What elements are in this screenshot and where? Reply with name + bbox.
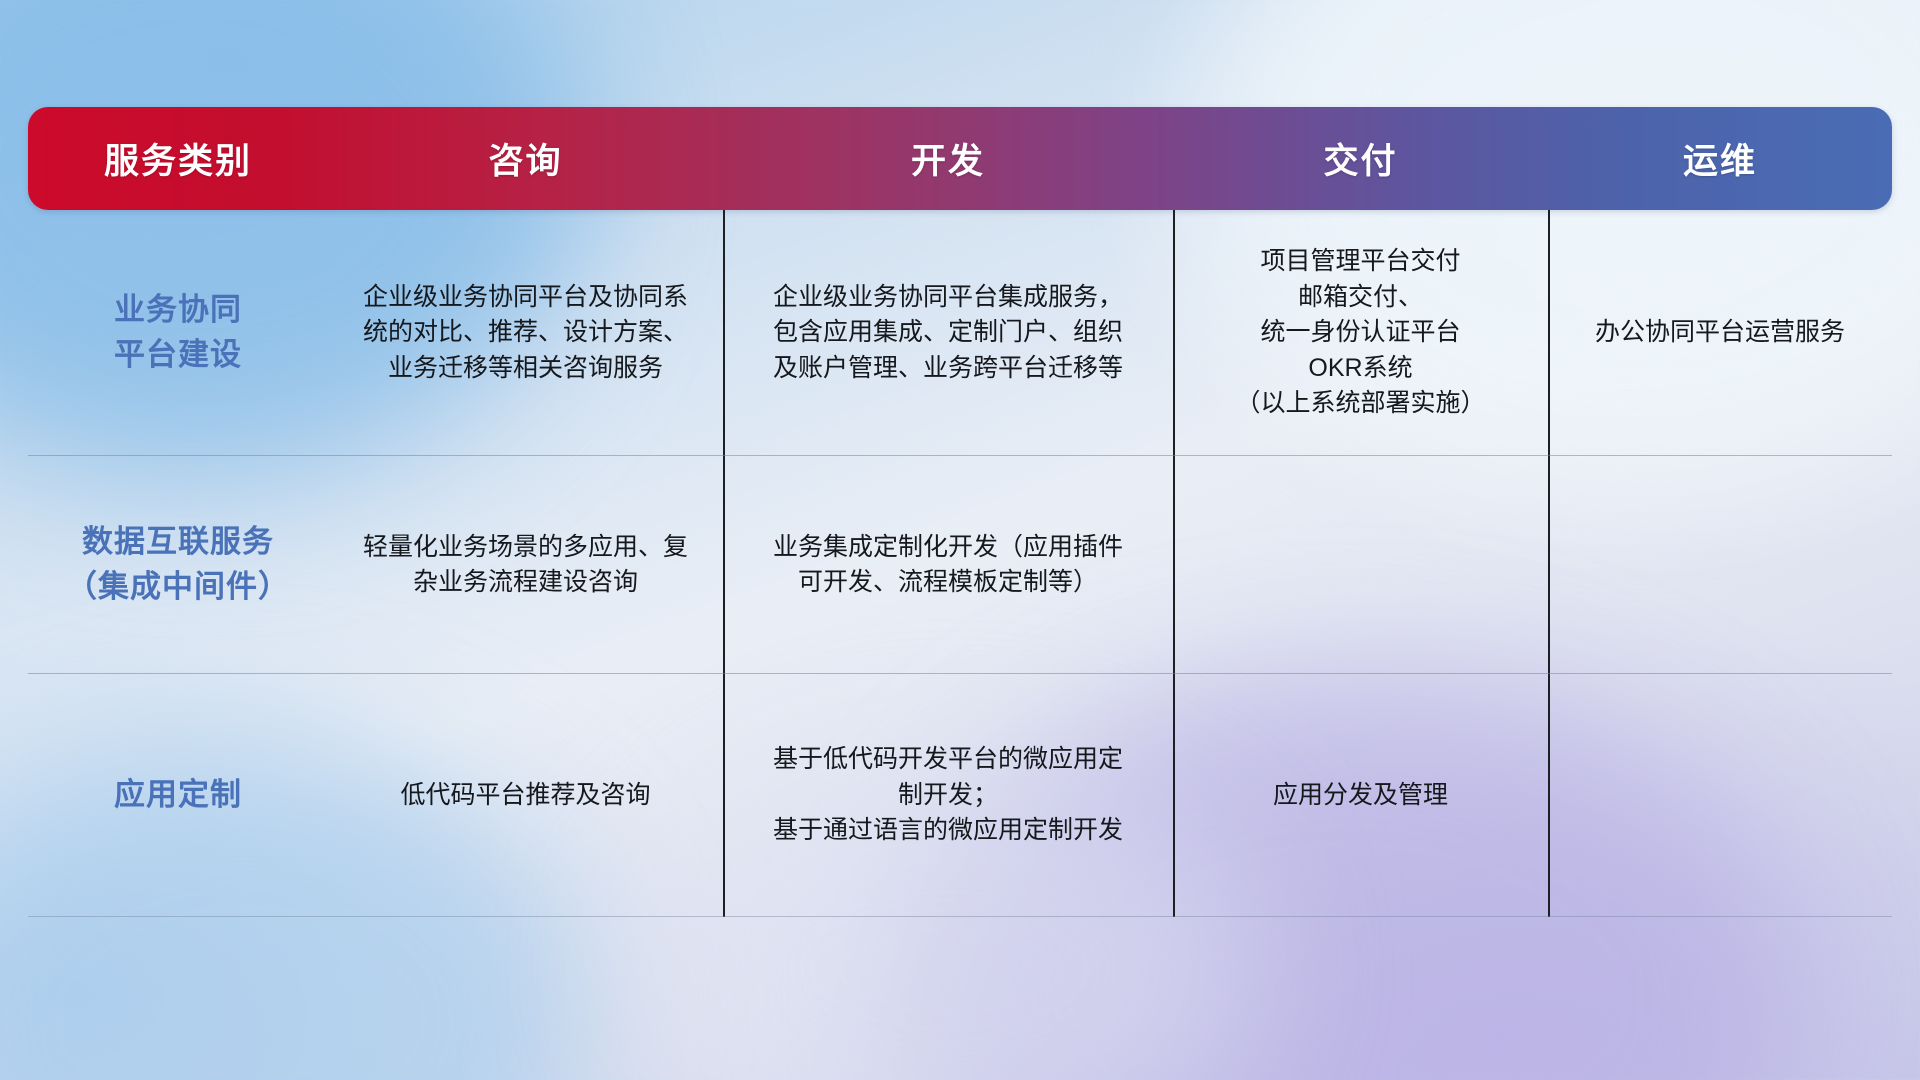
table-row: 数据互联服务 （集成中间件） 轻量化业务场景的多应用、复 杂业务流程建设咨询 业… bbox=[28, 456, 1892, 674]
row-category-label: 业务协同 平台建设 bbox=[28, 210, 328, 456]
cell-consulting: 企业级业务协同平台及协同系 统的对比、推荐、设计方案、 业务迁移等相关咨询服务 bbox=[328, 210, 723, 456]
table-header-row: 服务类别 咨询 开发 交付 运维 bbox=[28, 107, 1892, 210]
table-row: 业务协同 平台建设 企业级业务协同平台及协同系 统的对比、推荐、设计方案、 业务… bbox=[28, 210, 1892, 456]
cell-development: 业务集成定制化开发（应用插件 可开发、流程模板定制等） bbox=[723, 456, 1173, 674]
row-category-label: 应用定制 bbox=[28, 674, 328, 917]
column-header-delivery: 交付 bbox=[1173, 107, 1548, 210]
cell-delivery bbox=[1173, 456, 1548, 674]
service-matrix-table: 服务类别 咨询 开发 交付 运维 业务协同 平台建设 企业级业务协同平台及协同系… bbox=[28, 107, 1892, 917]
cell-operations bbox=[1548, 456, 1892, 674]
row-category-label: 数据互联服务 （集成中间件） bbox=[28, 456, 328, 674]
cell-delivery: 应用分发及管理 bbox=[1173, 674, 1548, 917]
cell-operations bbox=[1548, 674, 1892, 917]
cell-development: 基于低代码开发平台的微应用定 制开发； 基于通过语言的微应用定制开发 bbox=[723, 674, 1173, 917]
table-body: 业务协同 平台建设 企业级业务协同平台及协同系 统的对比、推荐、设计方案、 业务… bbox=[28, 210, 1892, 917]
column-header-category: 服务类别 bbox=[28, 107, 328, 210]
table-row: 应用定制 低代码平台推荐及咨询 基于低代码开发平台的微应用定 制开发； 基于通过… bbox=[28, 674, 1892, 917]
cell-operations: 办公协同平台运营服务 bbox=[1548, 210, 1892, 456]
cell-delivery: 项目管理平台交付 邮箱交付、 统一身份认证平台 OKR系统 （以上系统部署实施） bbox=[1173, 210, 1548, 456]
column-header-consulting: 咨询 bbox=[328, 107, 723, 210]
column-header-operations: 运维 bbox=[1548, 107, 1892, 210]
cell-development: 企业级业务协同平台集成服务， 包含应用集成、定制门户、组织 及账户管理、业务跨平… bbox=[723, 210, 1173, 456]
column-header-development: 开发 bbox=[723, 107, 1173, 210]
cell-consulting: 低代码平台推荐及咨询 bbox=[328, 674, 723, 917]
cell-consulting: 轻量化业务场景的多应用、复 杂业务流程建设咨询 bbox=[328, 456, 723, 674]
